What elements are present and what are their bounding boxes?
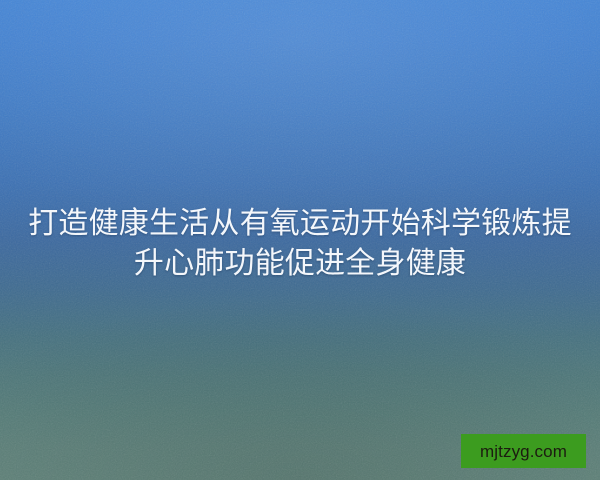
watermark-label: mjtzyg.com bbox=[480, 443, 567, 460]
watermark-badge: mjtzyg.com bbox=[461, 434, 586, 468]
page-title: 打造健康生活从有氧运动开始科学锻炼提升心肺功能促进全身健康 bbox=[0, 204, 600, 284]
cover-image-canvas: 打造健康生活从有氧运动开始科学锻炼提升心肺功能促进全身健康 mjtzyg.com bbox=[0, 0, 600, 480]
